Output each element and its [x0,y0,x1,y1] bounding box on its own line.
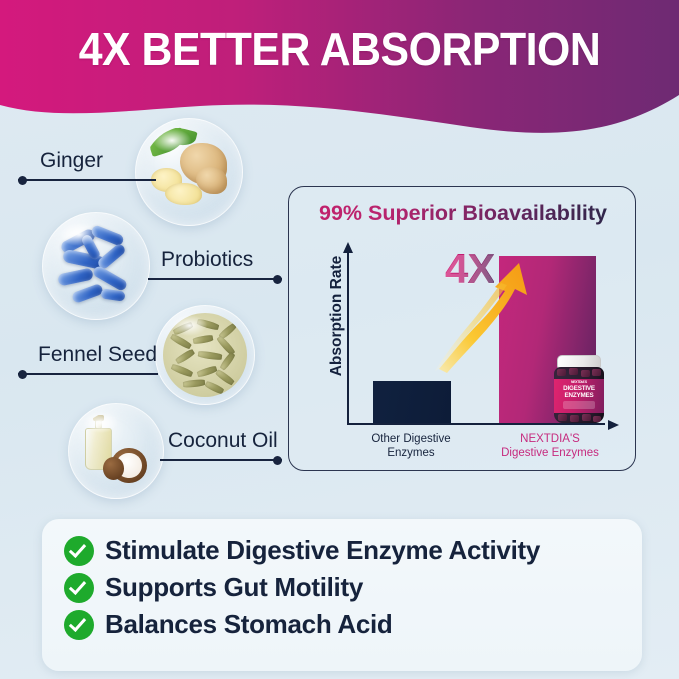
check-circle-icon [64,536,94,566]
connector-dot [18,370,27,379]
jar-badge [563,401,595,409]
chart-y-axis [347,245,349,425]
connector-line [18,373,158,375]
chart-plot-area: 4X NEXTDIA'S DIGESTIVE ENZYMES [347,239,619,425]
ingredient-label-coconut-oil: Coconut Oil [168,429,278,453]
ingredient-label-probiotics: Probiotics [161,248,253,272]
coconut-oil-icon [68,403,164,499]
jar-brand-text: NEXTDIA'S [555,380,603,384]
check-circle-icon [64,610,94,640]
benefit-item-1: Stimulate Digestive Enzyme Activity [64,535,642,566]
benefit-item-2: Supports Gut Motility [64,572,642,603]
connector-dot [273,456,282,465]
bar-other-digestive-enzymes [373,381,451,423]
jar-body: NEXTDIA'S DIGESTIVE ENZYMES [554,367,604,423]
chart-x-axis [347,423,605,425]
jar-product-line-1: DIGESTIVE [555,385,603,392]
benefit-label-3: Balances Stomach Acid [105,609,393,640]
connector-line [18,179,156,181]
ingredient-label-fennel-seed: Fennel Seed [38,343,157,367]
chart-category-label-nextdia: NEXTDIA'SDigestive Enzymes [475,433,625,460]
callout-4x: 4X [445,245,494,293]
ingredient-label-ginger: Ginger [40,149,103,173]
absorption-chart-panel: 99% Superior Bioavailability Absorption … [288,186,636,471]
probiotics-capsule-icon [42,212,150,320]
benefit-label-1: Stimulate Digestive Enzyme Activity [105,535,540,566]
jar-label: NEXTDIA'S DIGESTIVE ENZYMES [554,379,604,413]
page-title: 4X BETTER ABSORPTION [24,22,655,76]
connector-dot [273,275,282,284]
benefit-label-2: Supports Gut Motility [105,572,363,603]
check-circle-icon [64,573,94,603]
fennel-seed-icon [155,305,255,405]
chart-title: 99% Superior Bioavailability [289,201,637,226]
connector-line [160,459,282,461]
product-jar-image: NEXTDIA'S DIGESTIVE ENZYMES [552,355,606,423]
connector-line [148,278,282,280]
jar-product-line-2: ENZYMES [555,392,603,399]
chart-category-label-other: Other DigestiveEnzymes [347,433,475,460]
x-axis-arrow-icon [608,420,619,430]
connector-dot [18,176,27,185]
benefit-item-3: Balances Stomach Acid [64,609,642,640]
infographic-page: 4X BETTER ABSORPTION [0,0,679,679]
y-axis-arrow-icon [343,242,353,253]
benefits-card: Stimulate Digestive Enzyme Activity Supp… [42,519,642,671]
chart-y-axis-label: Absorption Rate [328,236,346,396]
